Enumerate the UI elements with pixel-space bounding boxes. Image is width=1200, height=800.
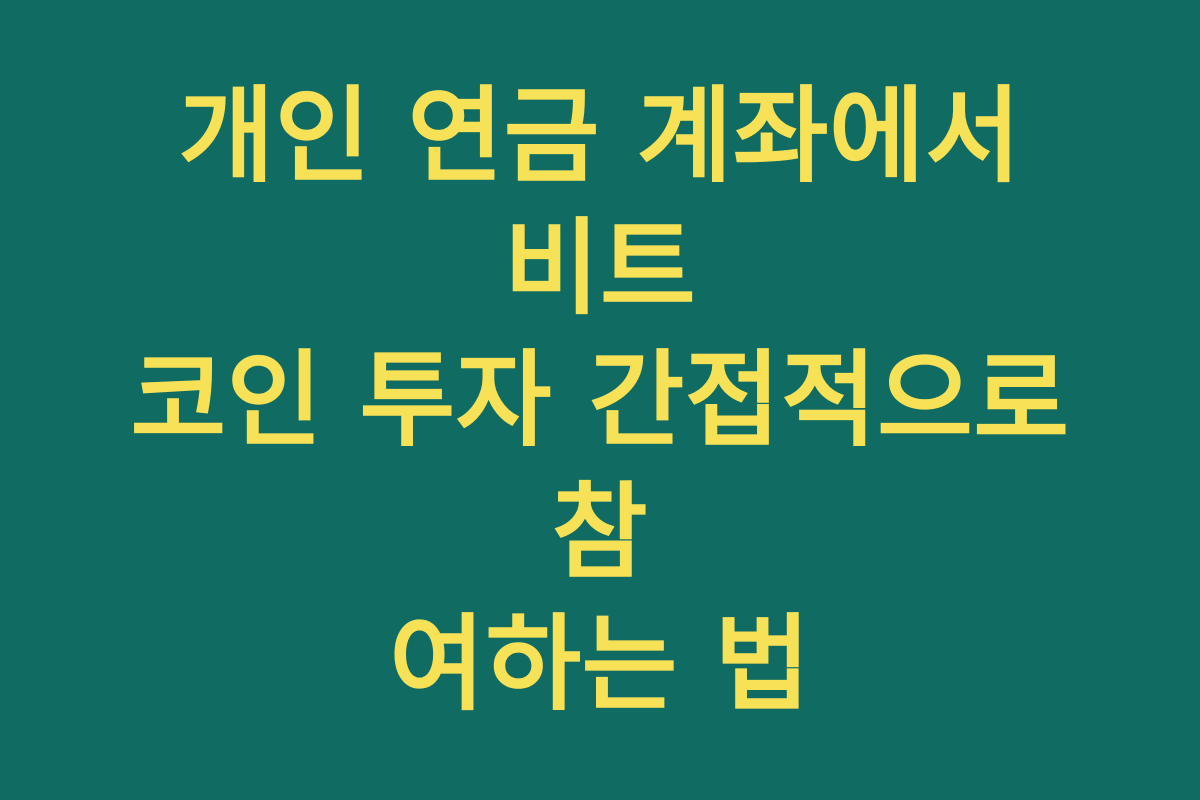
page-title: 개인 연금 계좌에서 비트 코인 투자 간접적으로 참 여하는 법 — [85, 70, 1115, 730]
headline-line-3: 여하는 법 — [85, 598, 1115, 730]
headline-line-1: 개인 연금 계좌에서 비트 — [85, 70, 1115, 334]
banner-canvas: 개인 연금 계좌에서 비트 코인 투자 간접적으로 참 여하는 법 — [0, 0, 1200, 800]
headline-line-2: 코인 투자 간접적으로 참 — [85, 334, 1115, 598]
